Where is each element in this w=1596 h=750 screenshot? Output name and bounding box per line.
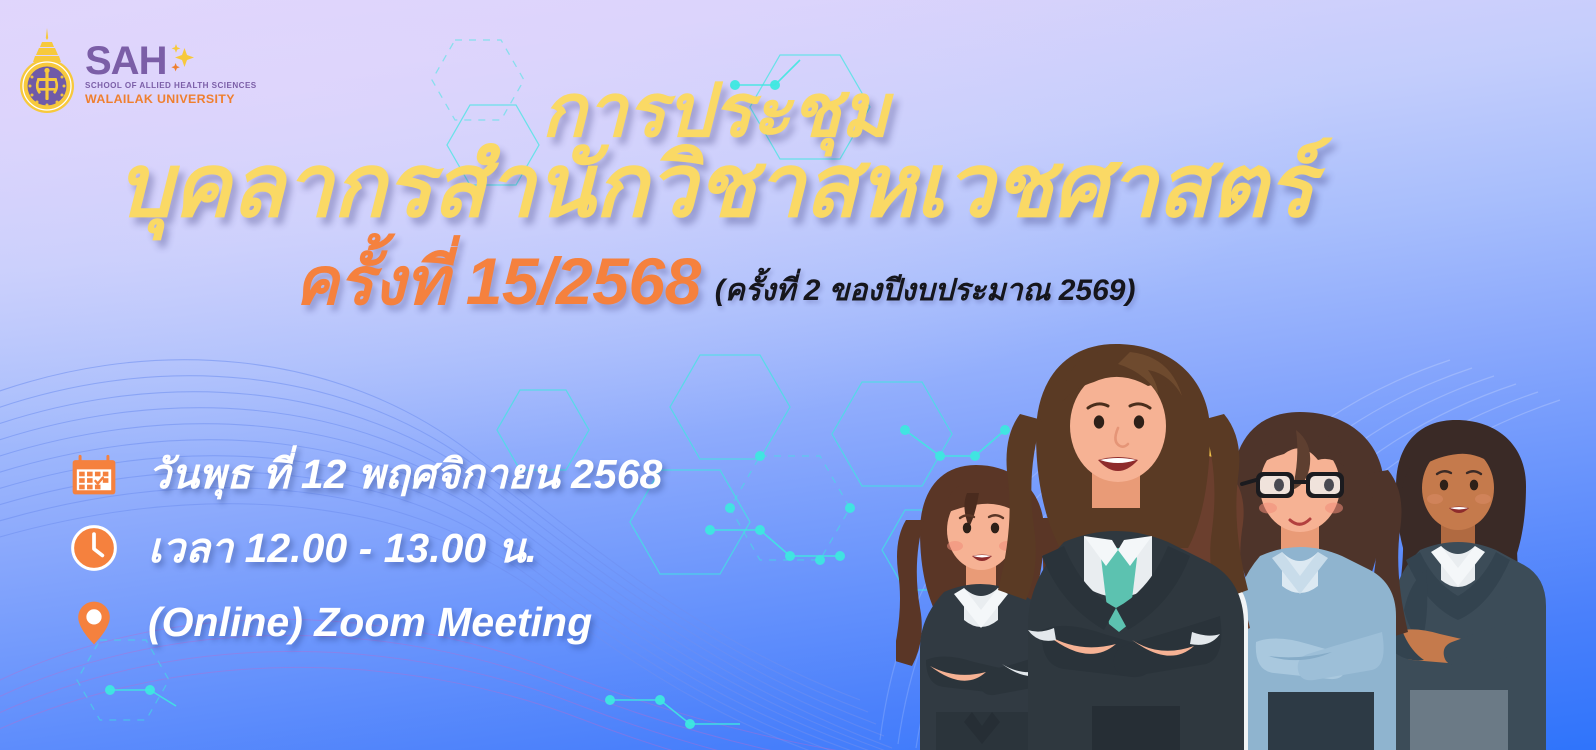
event-details: วันพุธ ที่ 12 พฤศจิกายน 2568 เวลา 12.00 …	[66, 446, 662, 650]
headline-block: การประชุม บุคลากรสำนักวิชาสหเวชศาสตร์	[0, 74, 1430, 230]
business-team-illustration	[896, 280, 1596, 750]
eyeglasses-icon	[1242, 472, 1344, 498]
sparkle-icon	[168, 42, 194, 78]
detail-location-text: (Online) Zoom Meeting	[148, 602, 592, 643]
detail-row-time: เวลา 12.00 - 13.00 น.	[66, 520, 662, 576]
location-pin-icon	[66, 594, 122, 650]
event-banner: SAH SCHOOL OF ALLIED HEALTH SCIENCES WAL…	[0, 0, 1596, 750]
detail-row-date: วันพุธ ที่ 12 พฤศจิกายน 2568	[66, 446, 662, 502]
calendar-icon	[66, 446, 122, 502]
detail-time-text: เวลา 12.00 - 13.00 น.	[148, 528, 537, 569]
person-5	[1392, 420, 1546, 750]
detail-row-location: (Online) Zoom Meeting	[66, 594, 662, 650]
headline-line-2: บุคลากรสำนักวิชาสหเวชศาสตร์	[0, 142, 1430, 230]
clock-icon	[66, 520, 122, 576]
person-2	[998, 344, 1248, 750]
detail-date-text: วันพุธ ที่ 12 พฤศจิกายน 2568	[148, 454, 662, 495]
subtitle-session: ครั้งที่ 15/2568	[295, 248, 701, 314]
